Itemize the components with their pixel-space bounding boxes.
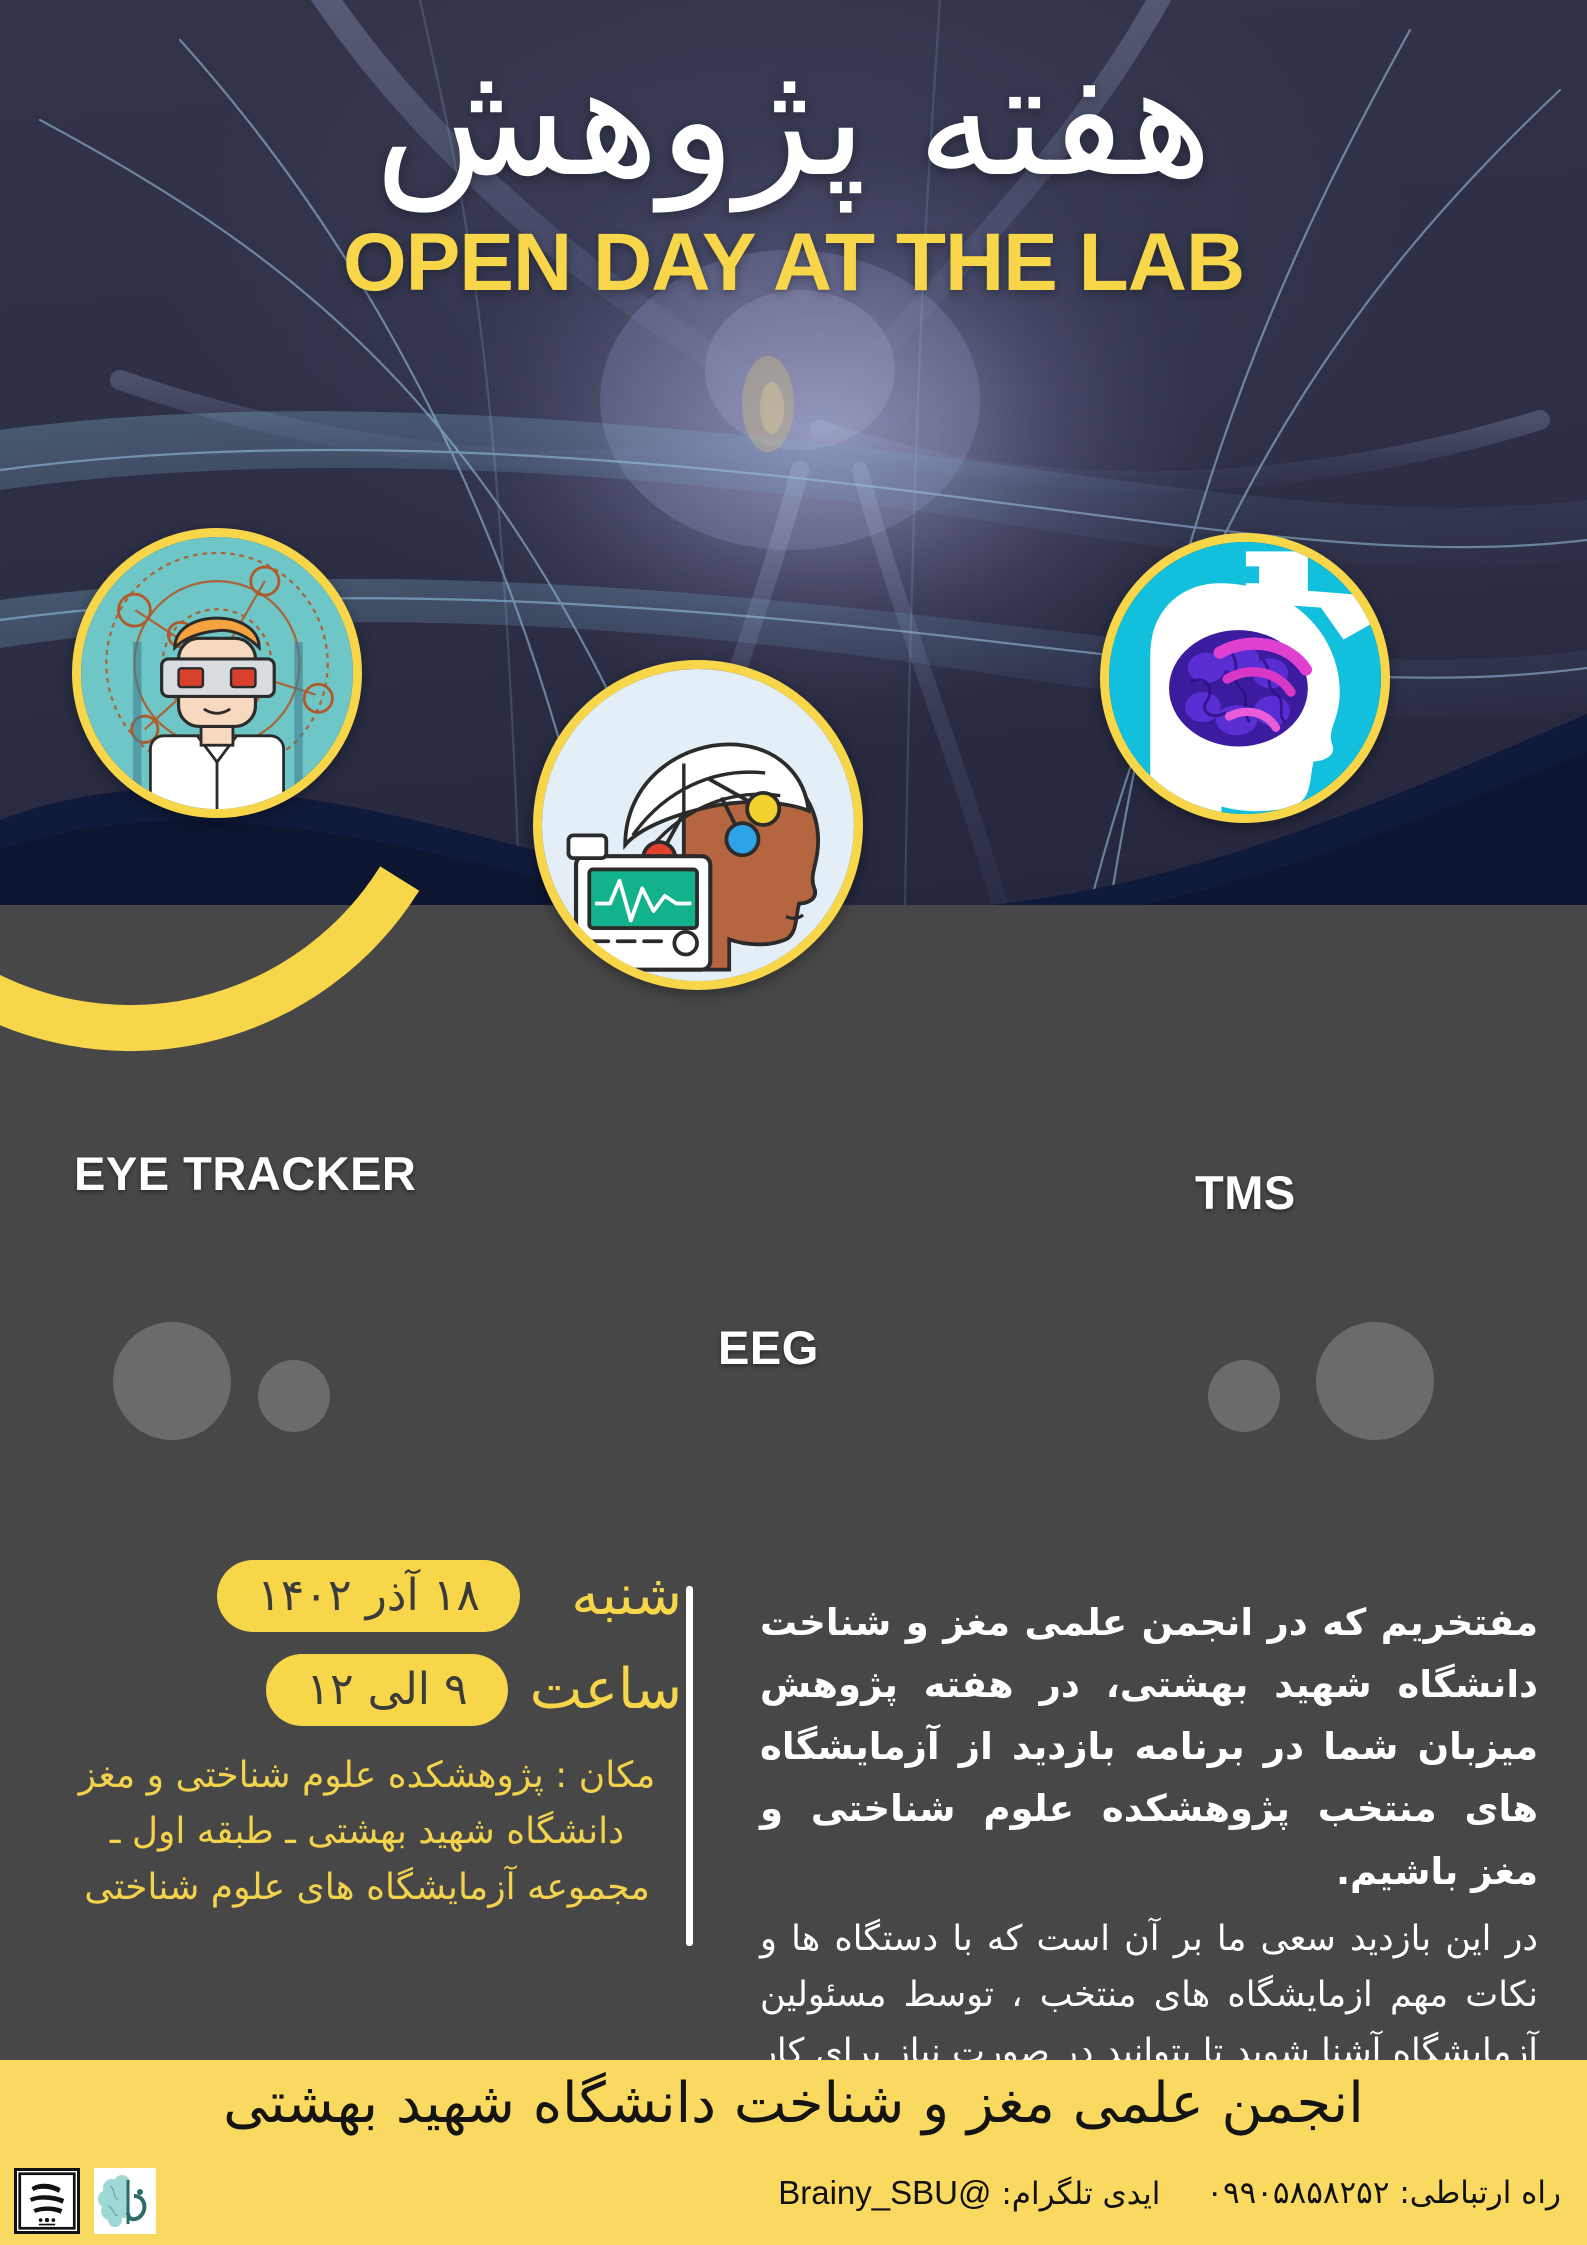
event-venue-text: مکان : پژوهشکده علوم شناختی و مغز دانشگا… — [52, 1748, 682, 1915]
event-date-pill: ۱۸ آذر ۱۴۰۲ — [217, 1560, 520, 1632]
description-paragraph-1: مفتخریم که در انجمن علمی مغز و شناخت دان… — [760, 1592, 1538, 1903]
poster-title-english: OPEN DAY AT THE LAB — [0, 222, 1587, 304]
lab-circle-eye-tracker[interactable] — [72, 528, 362, 818]
event-details-block: شنبه ۱۸ آذر ۱۴۰۲ ساعت ۹ الی ۱۲ مکان : پژ… — [52, 1560, 682, 1915]
lab-label-eeg: EEG — [718, 1320, 819, 1375]
eye-tracker-icon — [81, 537, 353, 809]
telegram-group[interactable]: ایدی تلگرام: @Brainy_SBU — [778, 2174, 1160, 2212]
footer-logos — [14, 2168, 156, 2234]
poster-root: هفته پژوهش OPEN DAY AT THE LAB — [0, 0, 1587, 2245]
contact-row: راه ارتباطی: ۰۹۹۰۵۸۵۸۲۵۲ ایدی تلگرام: @B… — [778, 2174, 1561, 2212]
telegram-label: ایدی تلگرام: — [1001, 2176, 1160, 2212]
brain-logo-icon — [94, 2168, 156, 2234]
contact-phone-value: ۰۹۹۰۵۸۵۸۲۵۲ — [1206, 2175, 1389, 2211]
event-day-label: شنبه — [542, 1568, 682, 1624]
decorative-circle — [258, 1360, 330, 1432]
event-time-row: ساعت ۹ الی ۱۲ — [52, 1654, 682, 1726]
lab-label-tms: TMS — [1195, 1165, 1296, 1220]
brain-association-logo — [94, 2168, 156, 2234]
contact-phone-group: راه ارتباطی: ۰۹۹۰۵۸۵۸۲۵۲ — [1206, 2175, 1561, 2211]
sbu-university-logo — [14, 2168, 80, 2234]
poster-title-farsi: هفته پژوهش — [0, 38, 1587, 204]
event-time-pill: ۹ الی ۱۲ — [266, 1654, 507, 1726]
footer-banner: انجمن علمی مغز و شناخت دانشگاه شهید بهشت… — [0, 2060, 1587, 2245]
sbu-logo-icon — [17, 2171, 77, 2231]
decorative-circle — [1316, 1322, 1434, 1440]
lab-circle-eeg[interactable] — [533, 660, 863, 990]
telegram-handle[interactable]: @Brainy_SBU — [778, 2174, 991, 2211]
decorative-circle — [113, 1322, 231, 1440]
event-date-row: شنبه ۱۸ آذر ۱۴۰۲ — [52, 1560, 682, 1632]
eeg-cap-icon — [542, 669, 854, 981]
organizer-name: انجمن علمی مغز و شناخت دانشگاه شهید بهشت… — [0, 2070, 1587, 2137]
info-divider-line — [686, 1586, 693, 1946]
event-time-label: ساعت — [530, 1662, 682, 1718]
tms-coil-icon — [1109, 542, 1381, 814]
lab-label-eye-tracker: EYE TRACKER — [74, 1146, 416, 1201]
contact-label: راه ارتباطی: — [1399, 2175, 1561, 2211]
decorative-circle — [1208, 1360, 1280, 1432]
lab-circle-tms[interactable] — [1100, 533, 1390, 823]
